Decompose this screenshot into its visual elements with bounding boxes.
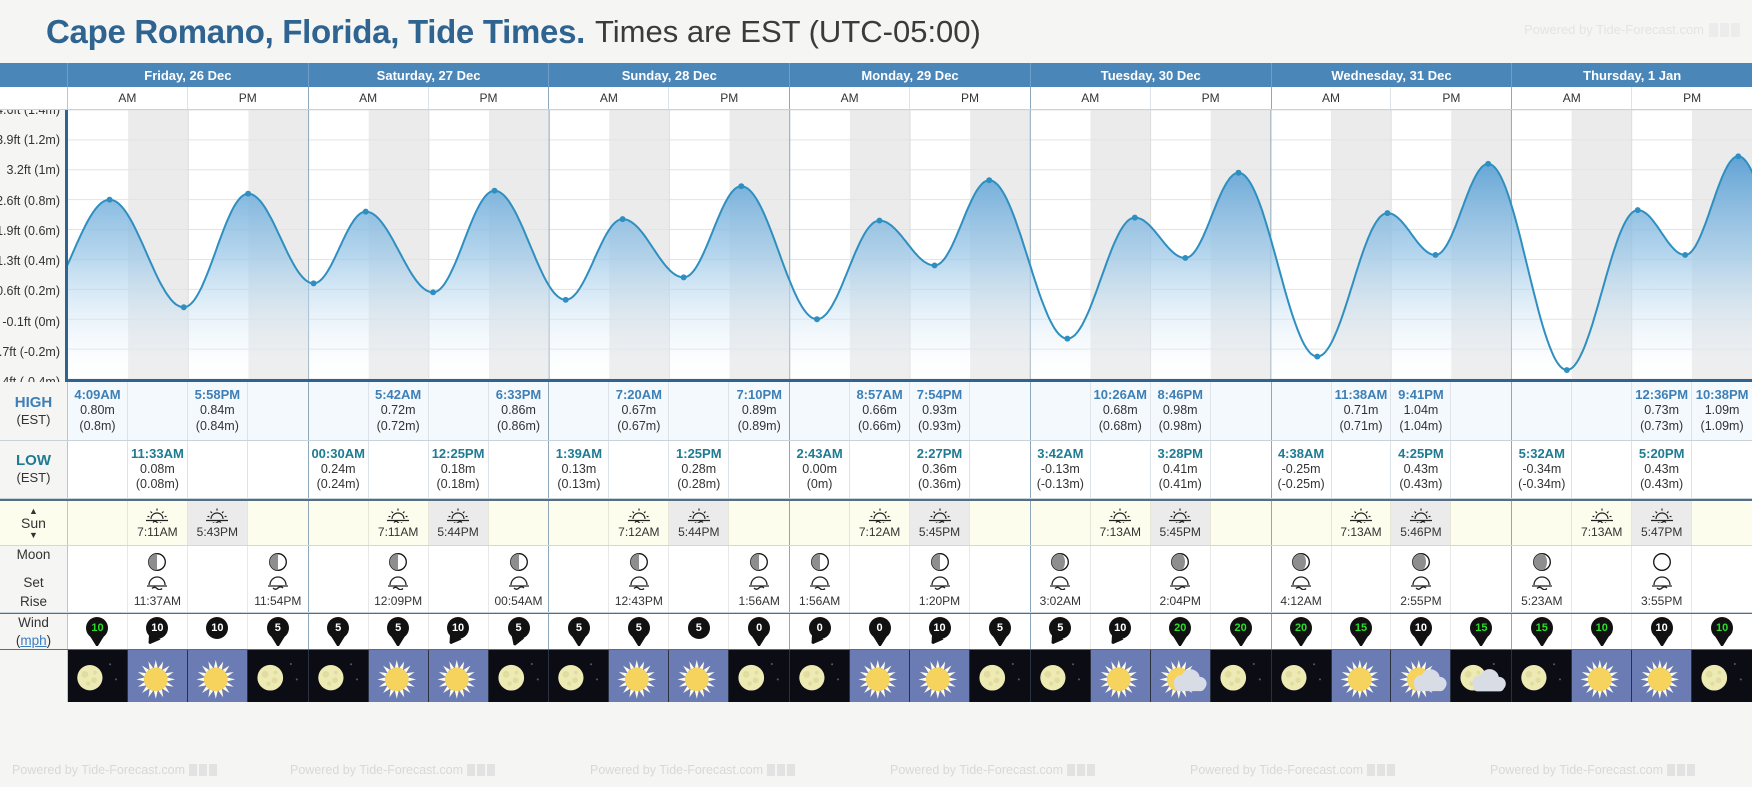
watermark-bars-icon bbox=[1709, 23, 1740, 37]
wind-badge: 20 bbox=[1228, 617, 1254, 647]
footer-watermark-5: Powered by Tide-Forecast.com bbox=[1490, 763, 1695, 777]
moonrise-icon bbox=[747, 576, 771, 590]
high-tide-slot-1-2 bbox=[429, 382, 489, 440]
high-tide-height-primary: 0.80m bbox=[80, 403, 115, 419]
ampm-pm-day-0: PM bbox=[188, 87, 308, 109]
wind-speed-value: 5 bbox=[989, 617, 1011, 639]
low-tide-slot-0-1: 11:33AM0.08m(0.08m) bbox=[128, 441, 188, 499]
wind-speed-value: 10 bbox=[1711, 617, 1733, 639]
high-tide-slot-3-3 bbox=[970, 382, 1030, 440]
high-tide-cell-day-0: 4:09AM0.80m(0.8m)5:58PM0.84m(0.84m) bbox=[68, 382, 309, 440]
low-tide-row: LOW (EST) 11:33AM0.08m(0.08m)00:30AM0.24… bbox=[0, 441, 1752, 500]
sun-slot-6-1: 7:13AM bbox=[1572, 501, 1632, 545]
ampm-am-day-2: AM bbox=[549, 87, 669, 109]
low-tide-height-secondary: (0.28m) bbox=[677, 477, 720, 493]
moonrise-time: 3:55PM bbox=[1641, 594, 1682, 608]
weather-cell-day-5 bbox=[1272, 650, 1513, 702]
wind-badge: 10 bbox=[1408, 617, 1434, 647]
moon-slot-2-3: 1:56AM bbox=[729, 546, 789, 612]
wind-badge: 10 bbox=[445, 617, 471, 647]
sunset-icon bbox=[1408, 507, 1434, 523]
wind-speed-value: 0 bbox=[809, 617, 831, 639]
wind-speed-value: 5 bbox=[327, 617, 349, 639]
low-tide-slot-3-2: 2:27PM0.36m(0.36m) bbox=[910, 441, 970, 499]
y-axis-tick-6: 0.6ft (0.2m) bbox=[0, 284, 60, 298]
weather-night-cloud-icon bbox=[1451, 650, 1511, 702]
wind-slot-0-0: 10 bbox=[68, 614, 128, 649]
ampm-am-day-6: AM bbox=[1512, 87, 1632, 109]
tide-extremum-marker-14 bbox=[986, 177, 992, 183]
weather-day-clear-icon bbox=[1632, 650, 1691, 702]
ampm-cell-day-6: AMPM bbox=[1512, 87, 1752, 109]
weather-cell-day-6 bbox=[1512, 650, 1752, 702]
low-tide-time: 3:28PM bbox=[1157, 446, 1203, 462]
high-tide-slot-6-3: 10:38PM1.09m(1.09m) bbox=[1692, 382, 1752, 440]
day-header-3: Monday, 29 Dec bbox=[790, 63, 1031, 87]
ampm-cell-day-3: AMPM bbox=[790, 87, 1031, 109]
sunset-icon bbox=[927, 507, 953, 523]
high-tide-row: HIGH (EST) 4:09AM0.80m(0.8m)5:58PM0.84m(… bbox=[0, 382, 1752, 441]
low-tide-height-secondary: (0.41m) bbox=[1159, 477, 1202, 493]
sun-slot-2-1: 7:12AM bbox=[609, 501, 669, 545]
low-tide-time: 12:25PM bbox=[432, 446, 485, 462]
moon-slot-2-0 bbox=[549, 546, 609, 612]
weather-slot-4-0 bbox=[1031, 650, 1091, 702]
weather-night-clear-icon bbox=[1272, 650, 1331, 702]
sunset-time: 5:44PM bbox=[437, 525, 478, 539]
moon-slot-0-1: 11:37AM bbox=[128, 546, 188, 612]
moon-cell-day-5: 4:12AM2:55PM bbox=[1272, 546, 1513, 612]
low-tide-slot-1-1 bbox=[369, 441, 429, 499]
wind-speed-value: 5 bbox=[1049, 617, 1071, 639]
low-tide-slot-0-2 bbox=[188, 441, 248, 499]
sunset-time: 5:46PM bbox=[1400, 525, 1441, 539]
sunrise-time: 7:12AM bbox=[618, 525, 659, 539]
moon-cell-day-2: 12:43PM1:56AM bbox=[549, 546, 790, 612]
weather-cell-day-4 bbox=[1031, 650, 1272, 702]
high-tide-slot-4-2: 8:46PM0.98m(0.98m) bbox=[1151, 382, 1211, 440]
low-tide-label-text: LOW bbox=[16, 452, 51, 470]
high-tide-cell-day-1: 5:42AM0.72m(0.72m)6:33PM0.86m(0.86m) bbox=[309, 382, 550, 440]
low-tide-slot-1-2: 12:25PM0.18m(0.18m) bbox=[429, 441, 489, 499]
weather-cell-day-2 bbox=[549, 650, 790, 702]
moonrise-icon bbox=[1168, 576, 1192, 590]
wind-slot-5-0: 20 bbox=[1272, 614, 1332, 649]
low-tide-height-primary: 0.43m bbox=[1404, 462, 1439, 478]
moon-slot-4-3 bbox=[1211, 546, 1271, 612]
high-tide-time: 12:36PM bbox=[1635, 387, 1688, 403]
weather-night-clear-icon bbox=[489, 650, 549, 702]
sunrise-time: 7:13AM bbox=[1340, 525, 1381, 539]
y-axis-tick-8: -0.7ft (-0.2m) bbox=[0, 345, 60, 359]
day-header-5: Wednesday, 31 Dec bbox=[1272, 63, 1513, 87]
moon-phase-waning-crescent-icon bbox=[1050, 552, 1070, 572]
moon-slot-1-0 bbox=[309, 546, 369, 612]
weather-night-clear-icon bbox=[309, 650, 368, 702]
day-header-corner bbox=[0, 63, 68, 87]
moon-slot-3-3 bbox=[970, 546, 1030, 612]
wind-slot-4-3: 20 bbox=[1211, 614, 1271, 649]
footer-watermarks: Powered by Tide-Forecast.comPowered by T… bbox=[0, 752, 1752, 787]
wind-badge: 10 bbox=[1107, 617, 1133, 647]
moon-phase-waning-crescent-icon bbox=[1291, 552, 1311, 572]
sun-slot-2-2: 5:44PM bbox=[669, 501, 729, 545]
high-tide-slot-0-3 bbox=[248, 382, 308, 440]
wind-speed-value: 10 bbox=[86, 617, 108, 639]
wind-slot-6-1: 10 bbox=[1572, 614, 1632, 649]
sun-cell-day-6: 7:13AM5:47PM bbox=[1512, 501, 1752, 545]
wind-row-label: Wind (mph) bbox=[0, 614, 68, 649]
low-tide-slot-4-2: 3:28PM0.41m(0.41m) bbox=[1151, 441, 1211, 499]
tide-extremum-marker-5 bbox=[430, 289, 436, 295]
wind-slot-1-2: 10 bbox=[429, 614, 489, 649]
wind-speed-value: 5 bbox=[387, 617, 409, 639]
low-tide-height-primary: 0.00m bbox=[802, 462, 837, 478]
high-tide-time: 6:33PM bbox=[496, 387, 542, 403]
high-tide-height-primary: 1.04m bbox=[1404, 403, 1439, 419]
sun-cell-day-2: 7:12AM5:44PM bbox=[549, 501, 790, 545]
wind-slot-2-2: 5 bbox=[669, 614, 729, 649]
high-tide-cell-day-3: 8:57AM0.66m(0.66m)7:54PM0.93m(0.93m) bbox=[790, 382, 1031, 440]
moon-slot-0-0 bbox=[68, 546, 128, 612]
high-tide-height-secondary: (0.68m) bbox=[1099, 419, 1142, 435]
low-tide-slot-3-3 bbox=[970, 441, 1030, 499]
wind-cell-day-0: 1010105 bbox=[68, 614, 309, 649]
low-tide-time: 1:39AM bbox=[556, 446, 602, 462]
high-tide-slot-0-0: 4:09AM0.80m(0.8m) bbox=[68, 382, 128, 440]
weather-slot-3-0 bbox=[790, 650, 850, 702]
low-tide-slot-6-0: 5:32AM-0.34m(-0.34m) bbox=[1512, 441, 1572, 499]
low-tide-height-secondary: (0.24m) bbox=[317, 477, 360, 493]
wind-slot-3-0: 0 bbox=[790, 614, 850, 649]
sun-slot-0-1: 7:11AM bbox=[128, 501, 188, 545]
moonset-icon bbox=[1048, 576, 1072, 590]
low-tide-height-primary: 0.08m bbox=[140, 462, 175, 478]
moonset-icon bbox=[627, 576, 651, 590]
low-tide-slot-6-3 bbox=[1692, 441, 1752, 499]
wind-badge: 10 bbox=[204, 617, 230, 647]
low-tide-cell-day-1: 00:30AM0.24m(0.24m)12:25PM0.18m(0.18m) bbox=[309, 441, 550, 499]
wind-badge: 5 bbox=[626, 617, 652, 647]
weather-night-clear-icon bbox=[248, 650, 308, 702]
moon-slot-2-1: 12:43PM bbox=[609, 546, 669, 612]
sun-slot-3-3 bbox=[970, 501, 1030, 545]
low-tide-time: 5:32AM bbox=[1519, 446, 1565, 462]
weather-night-clear-icon bbox=[790, 650, 849, 702]
tide-extremum-marker-15 bbox=[1064, 336, 1070, 342]
wind-badge: 0 bbox=[746, 617, 772, 647]
low-tide-slot-2-3 bbox=[729, 441, 789, 499]
weather-slot-2-3 bbox=[729, 650, 789, 702]
low-tide-slot-2-2: 1:25PM0.28m(0.28m) bbox=[669, 441, 729, 499]
high-tide-slot-2-0 bbox=[549, 382, 609, 440]
high-tide-slot-6-1 bbox=[1572, 382, 1632, 440]
low-tide-time: 4:38AM bbox=[1278, 446, 1324, 462]
moon-label-text: Moon bbox=[17, 547, 51, 562]
tide-extremum-marker-10 bbox=[738, 183, 744, 189]
moon-slot-6-3 bbox=[1692, 546, 1752, 612]
moon-cell-day-6: 5:23AM3:55PM bbox=[1512, 546, 1752, 612]
high-tide-cell-day-5: 11:38AM0.71m(0.71m)9:41PM1.04m(1.04m) bbox=[1272, 382, 1513, 440]
weather-slot-6-0 bbox=[1512, 650, 1572, 702]
moon-setrise-label: Set Rise bbox=[20, 574, 47, 610]
low-tide-cell-day-4: 3:42AM-0.13m(-0.13m)3:28PM0.41m(0.41m) bbox=[1031, 441, 1272, 499]
sunset-icon bbox=[445, 507, 471, 523]
wind-slot-1-0: 5 bbox=[309, 614, 369, 649]
high-tide-height-primary: 0.89m bbox=[742, 403, 777, 419]
low-tide-cell-day-2: 1:39AM0.13m(0.13m)1:25PM0.28m(0.28m) bbox=[549, 441, 790, 499]
moon-slot-6-0: 5:23AM bbox=[1512, 546, 1572, 612]
sunrise-icon bbox=[144, 507, 170, 523]
page-subtitle: Times are EST (UTC-05:00) bbox=[595, 14, 981, 50]
footer-watermark-bars-icon bbox=[767, 764, 795, 776]
wind-speed-value: 20 bbox=[1290, 617, 1312, 639]
high-tide-height-secondary: (0.93m) bbox=[918, 419, 961, 435]
ampm-pm-day-3: PM bbox=[910, 87, 1030, 109]
footer-watermark-bars-icon bbox=[189, 764, 217, 776]
moonrise-time: 1:20PM bbox=[919, 594, 960, 608]
tide-extremum-marker-25 bbox=[1682, 252, 1688, 258]
wind-badge: 5 bbox=[506, 617, 532, 647]
sun-slot-0-0 bbox=[68, 501, 128, 545]
moon-cell-day-1: 12:09PM00:54AM bbox=[309, 546, 550, 612]
sun-slot-3-0 bbox=[790, 501, 850, 545]
low-tide-height-secondary: (0.43m) bbox=[1640, 477, 1683, 493]
high-tide-time: 10:26AM bbox=[1094, 387, 1147, 403]
sun-slot-1-3 bbox=[489, 501, 549, 545]
low-tide-slot-6-1 bbox=[1572, 441, 1632, 499]
high-tide-height-primary: 0.68m bbox=[1103, 403, 1138, 419]
moonset-time: 5:23AM bbox=[1521, 594, 1562, 608]
weather-slot-3-1 bbox=[850, 650, 910, 702]
wind-slot-5-3: 15 bbox=[1451, 614, 1511, 649]
low-tide-slot-5-3 bbox=[1451, 441, 1511, 499]
moonset-icon bbox=[1530, 576, 1554, 590]
tide-extremum-marker-16 bbox=[1132, 215, 1138, 221]
sun-slot-6-0 bbox=[1512, 501, 1572, 545]
powered-by-watermark-top: Powered by Tide-Forecast.com bbox=[1524, 22, 1740, 37]
weather-day-clear-icon bbox=[1091, 650, 1150, 702]
weather-icon-row bbox=[0, 650, 1752, 702]
high-tide-height-primary: 0.71m bbox=[1344, 403, 1379, 419]
low-tide-slot-0-0 bbox=[68, 441, 128, 499]
sunset-time: 5:47PM bbox=[1641, 525, 1682, 539]
footer-watermark-0: Powered by Tide-Forecast.com bbox=[12, 763, 217, 777]
moon-phase-last-quarter-icon bbox=[930, 552, 950, 572]
high-tide-slot-4-3 bbox=[1211, 382, 1271, 440]
moon-cell-day-3: 1:56AM1:20PM bbox=[790, 546, 1031, 612]
footer-watermark-bars-icon bbox=[467, 764, 495, 776]
moon-phase-last-quarter-icon bbox=[629, 552, 649, 572]
wind-speed-value: 10 bbox=[929, 617, 951, 639]
sun-slot-1-2: 5:44PM bbox=[429, 501, 489, 545]
moon-slot-1-3: 00:54AM bbox=[489, 546, 549, 612]
moonrise-icon bbox=[1650, 576, 1674, 590]
wind-slot-0-1: 10 bbox=[128, 614, 188, 649]
wind-slot-2-1: 5 bbox=[609, 614, 669, 649]
ampm-pm-day-2: PM bbox=[669, 87, 789, 109]
tide-extremum-marker-24 bbox=[1635, 207, 1641, 213]
wind-unit-text[interactable]: mph bbox=[20, 633, 46, 648]
high-tide-time: 8:46PM bbox=[1157, 387, 1203, 403]
high-tide-height-secondary: (1.09m) bbox=[1701, 419, 1744, 435]
low-tide-slot-1-0: 00:30AM0.24m(0.24m) bbox=[309, 441, 369, 499]
low-tide-height-primary: -0.13m bbox=[1041, 462, 1080, 478]
weather-slot-1-1 bbox=[369, 650, 429, 702]
sunset-time: 5:43PM bbox=[197, 525, 238, 539]
moon-phase-last-quarter-icon bbox=[810, 552, 830, 572]
weather-slot-5-3 bbox=[1451, 650, 1511, 702]
high-tide-time: 7:10PM bbox=[736, 387, 782, 403]
wind-badge: 20 bbox=[1288, 617, 1314, 647]
weather-day-clear-icon bbox=[128, 650, 187, 702]
wind-unit-link[interactable]: (mph) bbox=[16, 632, 51, 650]
low-tide-time: 3:42AM bbox=[1037, 446, 1083, 462]
tide-curve-plot bbox=[68, 110, 1752, 382]
sun-cell-day-1: 7:11AM5:44PM bbox=[309, 501, 550, 545]
weather-slot-4-1 bbox=[1091, 650, 1151, 702]
wind-speed-value: 20 bbox=[1169, 617, 1191, 639]
low-tide-height-secondary: (-0.13m) bbox=[1037, 477, 1084, 493]
wind-slot-6-3: 10 bbox=[1692, 614, 1752, 649]
wind-slot-3-1: 0 bbox=[850, 614, 910, 649]
high-tide-slot-6-0 bbox=[1512, 382, 1572, 440]
sun-slot-4-0 bbox=[1031, 501, 1091, 545]
low-tide-slot-6-2: 5:20PM0.43m(0.43m) bbox=[1632, 441, 1692, 499]
weather-night-clear-icon bbox=[970, 650, 1030, 702]
wind-speed-value: 5 bbox=[628, 617, 650, 639]
wind-speed-value: 0 bbox=[748, 617, 770, 639]
weather-night-clear-icon bbox=[729, 650, 789, 702]
wind-badge: 0 bbox=[867, 617, 893, 647]
y-axis-tick-9: -1.4ft (-0.4m) bbox=[0, 375, 60, 382]
footer-watermark-text: Powered by Tide-Forecast.com bbox=[1190, 763, 1363, 777]
wind-speed-value: 10 bbox=[146, 617, 168, 639]
low-tide-height-secondary: (0.36m) bbox=[918, 477, 961, 493]
wind-badge: 15 bbox=[1529, 617, 1555, 647]
sunset-icon bbox=[1167, 507, 1193, 523]
high-tide-slot-2-2 bbox=[669, 382, 729, 440]
weather-slot-3-3 bbox=[970, 650, 1030, 702]
wind-slot-6-0: 15 bbox=[1512, 614, 1572, 649]
wind-badge: 5 bbox=[385, 617, 411, 647]
sunset-icon bbox=[686, 507, 712, 523]
moonset-icon bbox=[386, 576, 410, 590]
tide-extremum-marker-23 bbox=[1564, 367, 1570, 373]
sunrise-time: 7:11AM bbox=[137, 525, 177, 539]
sun-slot-0-2: 5:43PM bbox=[188, 501, 248, 545]
high-tide-height-secondary: (0.72m) bbox=[377, 419, 420, 435]
ampm-am-day-5: AM bbox=[1272, 87, 1392, 109]
wind-slot-2-0: 5 bbox=[549, 614, 609, 649]
footer-watermark-bars-icon bbox=[1367, 764, 1395, 776]
low-tide-height-secondary: (-0.34m) bbox=[1518, 477, 1565, 493]
low-tide-slot-2-1 bbox=[609, 441, 669, 499]
ampm-pm-day-5: PM bbox=[1391, 87, 1511, 109]
sunrise-time: 7:11AM bbox=[378, 525, 418, 539]
high-tide-height-primary: 0.73m bbox=[1644, 403, 1679, 419]
moonset-time: 1:56AM bbox=[799, 594, 840, 608]
high-tide-height-primary: 0.93m bbox=[922, 403, 957, 419]
moon-phase-new-moon-icon bbox=[1652, 552, 1672, 572]
wind-slot-5-1: 15 bbox=[1332, 614, 1392, 649]
tide-extremum-marker-12 bbox=[876, 218, 882, 224]
wind-badge: 5 bbox=[1047, 617, 1073, 647]
moon-slot-0-3: 11:54PM bbox=[248, 546, 308, 612]
ampm-cell-day-1: AMPM bbox=[309, 87, 550, 109]
wind-slot-0-2: 10 bbox=[188, 614, 248, 649]
weather-slot-0-2 bbox=[188, 650, 248, 702]
weather-slot-5-1 bbox=[1332, 650, 1392, 702]
tide-extremum-marker-0 bbox=[107, 197, 113, 203]
sun-slot-0-3 bbox=[248, 501, 308, 545]
wind-speed-value: 5 bbox=[508, 617, 530, 639]
moonset-icon bbox=[145, 576, 169, 590]
footer-watermark-2: Powered by Tide-Forecast.com bbox=[590, 763, 795, 777]
moonrise-time: 00:54AM bbox=[494, 594, 542, 608]
high-tide-time: 7:54PM bbox=[917, 387, 963, 403]
low-tide-cell-day-6: 5:32AM-0.34m(-0.34m)5:20PM0.43m(0.43m) bbox=[1512, 441, 1752, 499]
high-tide-slot-5-1: 11:38AM0.71m(0.71m) bbox=[1332, 382, 1392, 440]
footer-watermark-text: Powered by Tide-Forecast.com bbox=[590, 763, 763, 777]
ampm-corner bbox=[0, 87, 68, 109]
moonrise-time: 2:04PM bbox=[1160, 594, 1201, 608]
moon-row-label: Moon Set Rise bbox=[0, 546, 68, 612]
high-tide-height-primary: 0.84m bbox=[200, 403, 235, 419]
sunrise-time: 7:13AM bbox=[1100, 525, 1141, 539]
sun-up-arrow-icon: ▲ bbox=[29, 507, 38, 515]
sunrise-icon bbox=[867, 507, 893, 523]
moon-slot-5-1 bbox=[1332, 546, 1392, 612]
moon-slot-3-2: 1:20PM bbox=[910, 546, 970, 612]
high-tide-slot-2-1: 7:20AM0.67m(0.67m) bbox=[609, 382, 669, 440]
wind-badge: 10 bbox=[1709, 617, 1735, 647]
weather-night-clear-icon bbox=[68, 650, 127, 702]
weather-day-clear-icon bbox=[188, 650, 247, 702]
high-tide-slot-1-0 bbox=[309, 382, 369, 440]
moon-slot-5-0: 4:12AM bbox=[1272, 546, 1332, 612]
high-tide-slot-3-0 bbox=[790, 382, 850, 440]
sun-cell-day-4: 7:13AM5:45PM bbox=[1031, 501, 1272, 545]
sun-slot-5-3 bbox=[1451, 501, 1511, 545]
low-tide-height-primary: 0.18m bbox=[441, 462, 476, 478]
tide-extremum-marker-22 bbox=[1485, 161, 1491, 167]
page-header: Cape Romano, Florida, Tide Times. Times … bbox=[0, 0, 1752, 63]
y-axis-tick-1: 3.9ft (1.2m) bbox=[0, 133, 60, 147]
wind-cell-day-1: 55105 bbox=[309, 614, 550, 649]
tide-extremum-marker-3 bbox=[311, 280, 317, 286]
sunset-time: 5:44PM bbox=[678, 525, 719, 539]
high-tide-height-primary: 0.66m bbox=[862, 403, 897, 419]
weather-slot-1-0 bbox=[309, 650, 369, 702]
moonset-icon bbox=[808, 576, 832, 590]
weather-slot-6-1 bbox=[1572, 650, 1632, 702]
tide-extremum-marker-21 bbox=[1432, 252, 1438, 258]
weather-slot-6-3 bbox=[1692, 650, 1752, 702]
wind-speed-value: 5 bbox=[267, 617, 289, 639]
high-tide-height-secondary: (0.8m) bbox=[79, 419, 115, 435]
low-tide-height-primary: -0.25m bbox=[1282, 462, 1321, 478]
sun-slot-1-0 bbox=[309, 501, 369, 545]
sun-slot-4-2: 5:45PM bbox=[1151, 501, 1211, 545]
weather-slot-6-2 bbox=[1632, 650, 1692, 702]
weather-slot-1-2 bbox=[429, 650, 489, 702]
weather-day-cloud-icon bbox=[1151, 650, 1210, 702]
sunset-icon bbox=[204, 507, 230, 523]
wind-cell-day-3: 00105 bbox=[790, 614, 1031, 649]
high-tide-time: 8:57AM bbox=[856, 387, 902, 403]
wind-slot-2-3: 0 bbox=[729, 614, 789, 649]
